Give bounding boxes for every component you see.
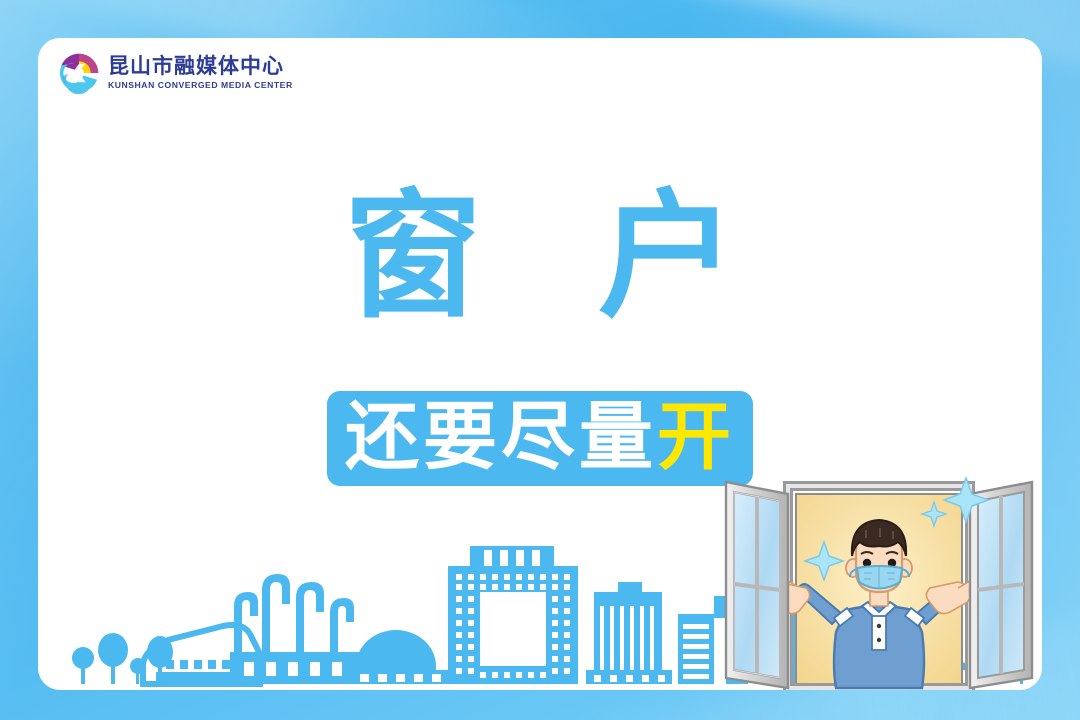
- subtitle-text-yellow: 开: [657, 400, 735, 474]
- brand-logo-text: 昆山市融媒体中心 KUNSHAN CONVERGED MEDIA CENTER: [108, 56, 293, 90]
- kunshan-k-circle-icon: [58, 52, 100, 94]
- page-title: 窗 户: [38, 188, 1042, 326]
- brand-name-cn: 昆山市融媒体中心: [108, 56, 293, 77]
- brand-logo: 昆山市融媒体中心 KUNSHAN CONVERGED MEDIA CENTER: [58, 52, 293, 94]
- subtitle-text-white: 还要尽量: [345, 400, 657, 474]
- subtitle-banner: 还要尽量 开: [327, 391, 753, 486]
- brand-name-en: KUNSHAN CONVERGED MEDIA CENTER: [108, 81, 293, 90]
- poster-root: 昆山市融媒体中心 KUNSHAN CONVERGED MEDIA CENTER …: [0, 0, 1080, 720]
- poster-card: 昆山市融媒体中心 KUNSHAN CONVERGED MEDIA CENTER …: [38, 38, 1042, 690]
- boy-opening-window-illustration: [714, 464, 1042, 690]
